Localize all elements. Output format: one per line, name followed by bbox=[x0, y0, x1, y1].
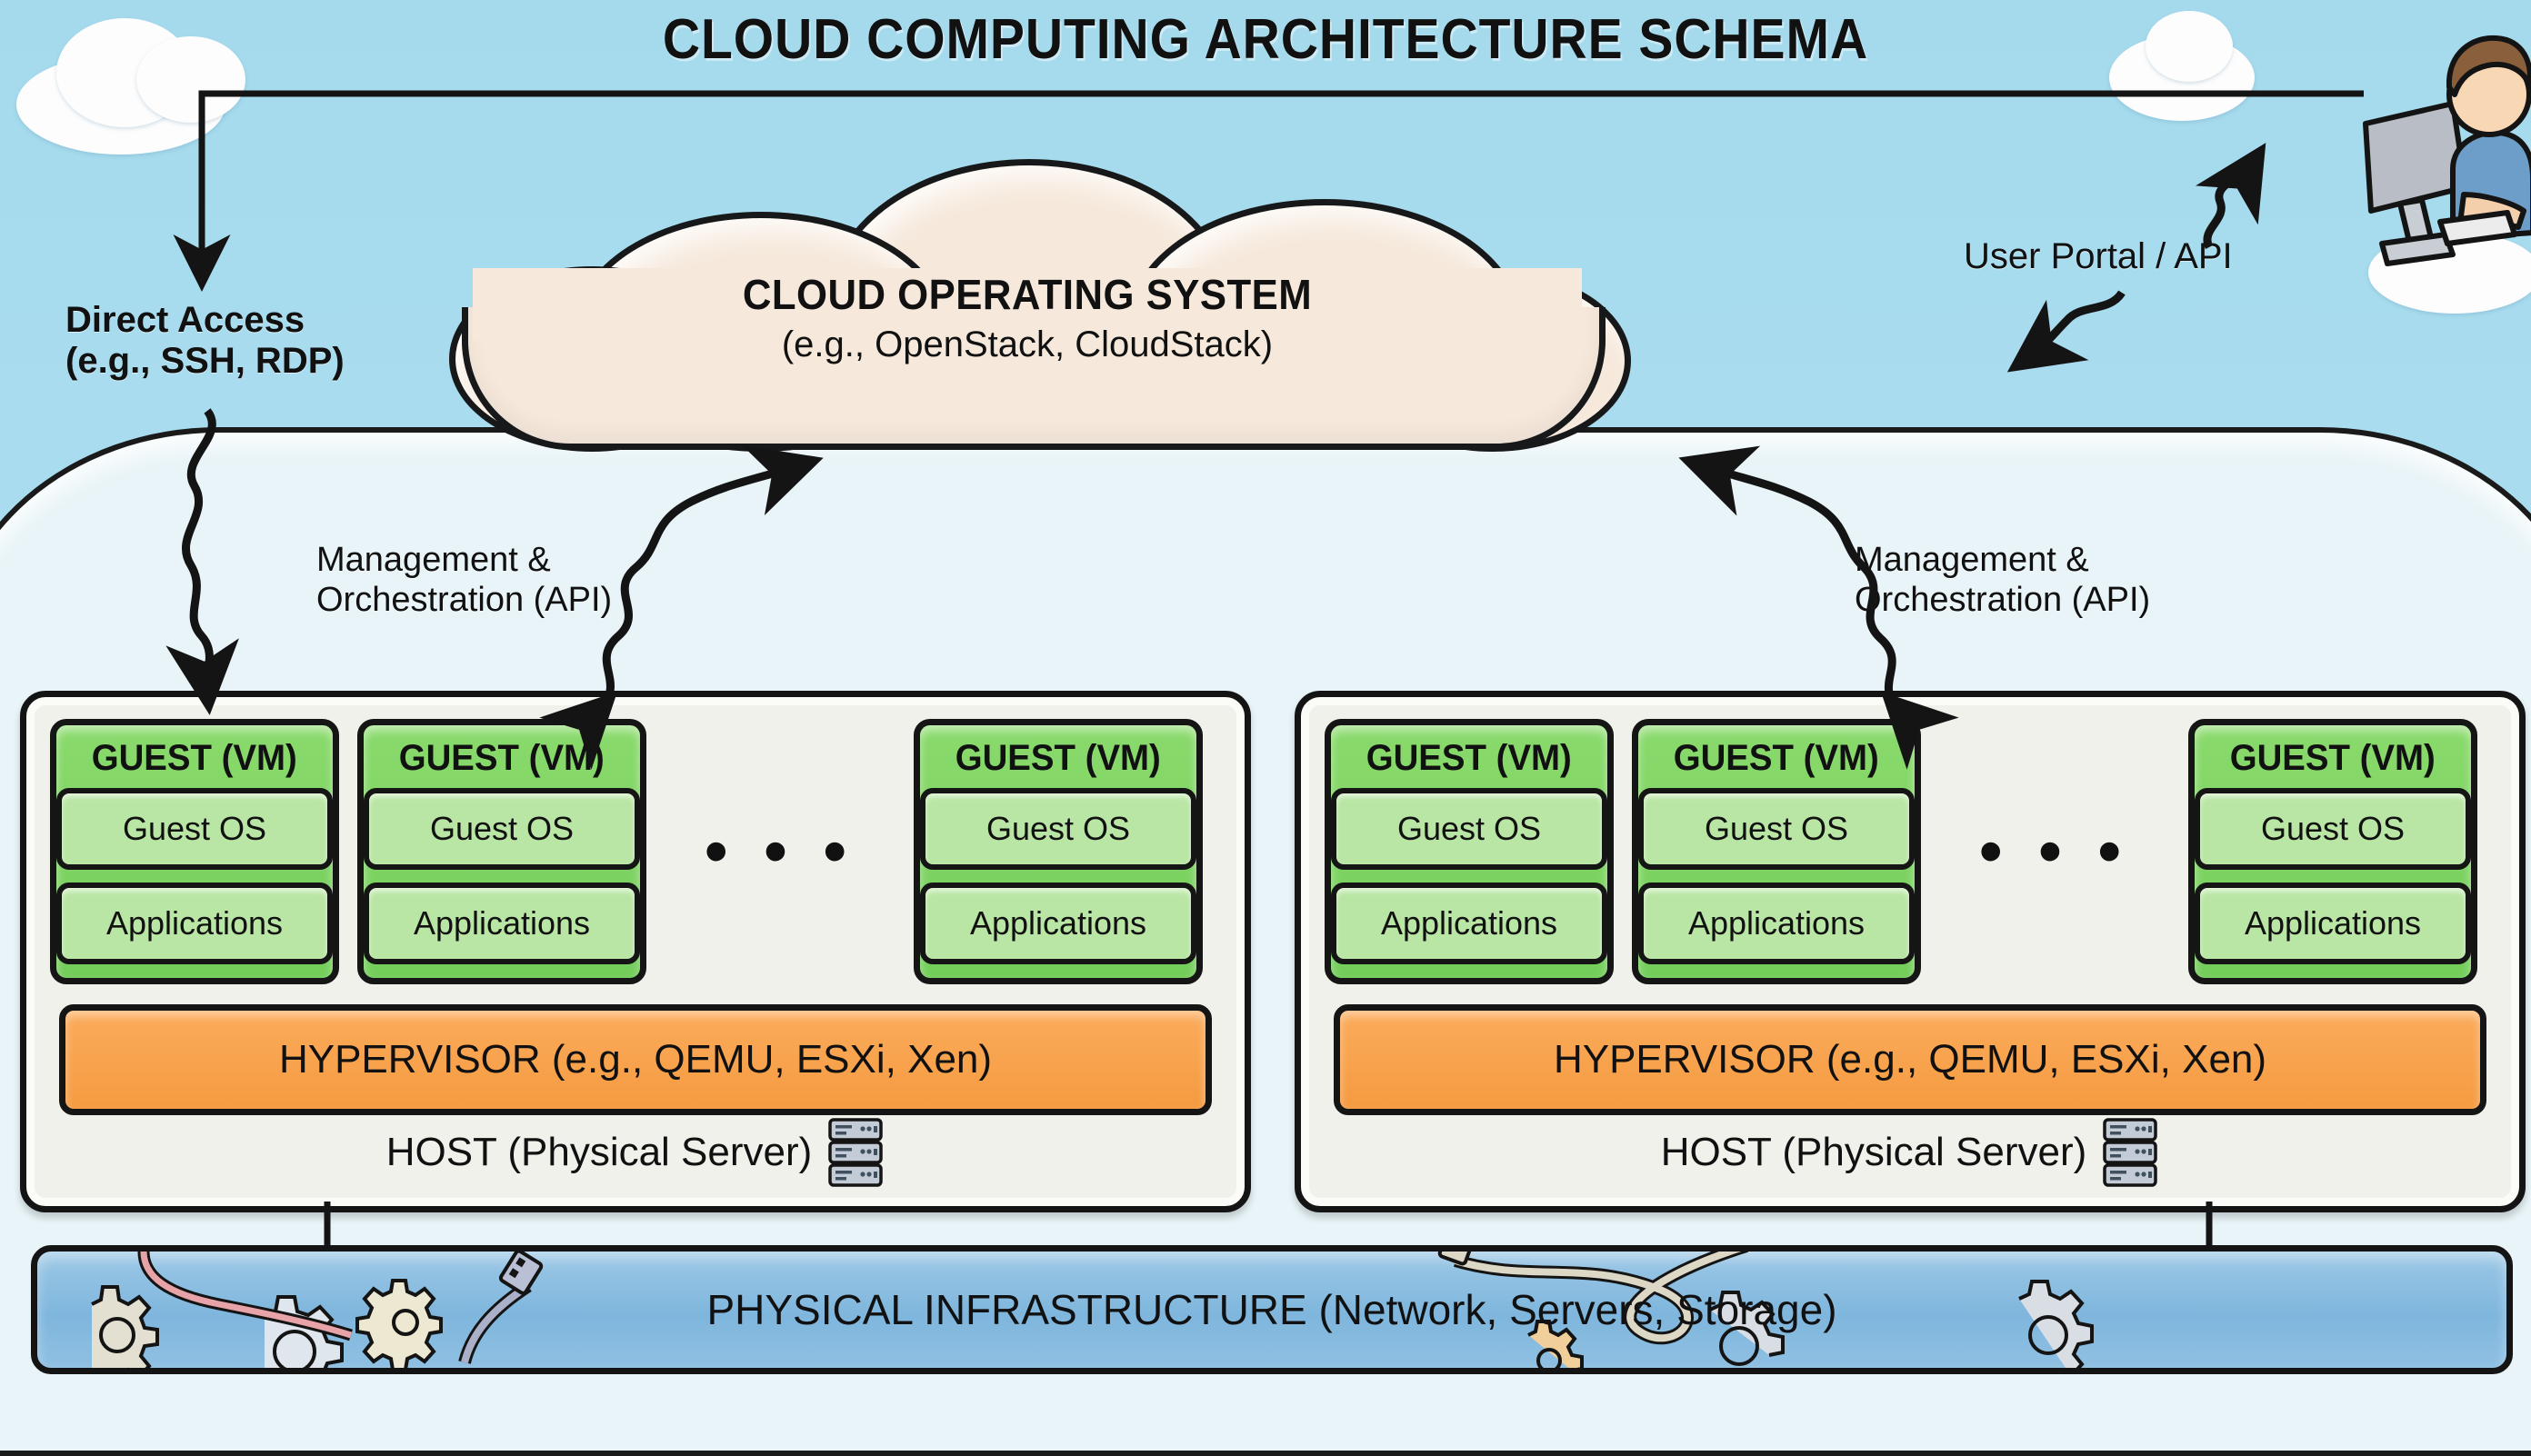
cable-usb bbox=[465, 1286, 528, 1362]
applications-box[interactable]: Applications bbox=[364, 883, 640, 964]
host-group-right[interactable]: GUEST (VM) Guest OS Applications GUEST (… bbox=[1295, 691, 2526, 1212]
guest-os-box[interactable]: Guest OS bbox=[364, 788, 640, 870]
guest-vm-card[interactable]: GUEST (VM) Guest OS Applications bbox=[1325, 719, 1614, 984]
guest-vm-title: GUEST (VM) bbox=[2230, 738, 2436, 779]
applications-box[interactable]: Applications bbox=[920, 883, 1196, 964]
cloud-os-subtitle: (e.g., OpenStack, CloudStack) bbox=[436, 324, 1618, 365]
hypervisor-bar[interactable]: HYPERVISOR (e.g., QEMU, ESXi, Xen) bbox=[59, 1004, 1212, 1115]
host-label-text: HOST (Physical Server) bbox=[1661, 1130, 2087, 1175]
gear-icon bbox=[357, 1281, 441, 1368]
cloud-operating-system-node[interactable]: CLOUD OPERATING SYSTEM (e.g., OpenStack,… bbox=[436, 159, 1618, 450]
guest-vm-title: GUEST (VM) bbox=[1366, 738, 1572, 779]
guest-vm-card[interactable]: GUEST (VM) Guest OS Applications bbox=[914, 719, 1203, 984]
host-label-group: HOST (Physical Server) bbox=[48, 1117, 1223, 1188]
vm-row-right: GUEST (VM) Guest OS Applications GUEST (… bbox=[1325, 715, 2496, 988]
host-label-group: HOST (Physical Server) bbox=[1323, 1117, 2497, 1188]
ellipsis-icon: • • • bbox=[705, 839, 855, 865]
direct-access-line1: Direct Access bbox=[65, 300, 345, 341]
host-group-left[interactable]: GUEST (VM) Guest OS Applications GUEST (… bbox=[20, 691, 1251, 1212]
physical-infrastructure-label: PHYSICAL INFRASTRUCTURE (Network, Server… bbox=[706, 1285, 1836, 1334]
cloud-os-text-group: CLOUD OPERATING SYSTEM (e.g., OpenStack,… bbox=[436, 270, 1618, 365]
server-rack-icon bbox=[2101, 1117, 2159, 1188]
guest-vm-title: GUEST (VM) bbox=[955, 738, 1161, 779]
management-orchestration-label-right: Management & Orchestration (API) bbox=[1855, 541, 2150, 620]
guest-os-box[interactable]: Guest OS bbox=[920, 788, 1196, 870]
physical-infrastructure-bar[interactable]: PHYSICAL INFRASTRUCTURE (Network, Server… bbox=[31, 1245, 2513, 1374]
mgmt-line2: Orchestration (API) bbox=[1855, 581, 2150, 621]
monitor-base bbox=[2382, 234, 2453, 264]
gear-hub bbox=[1538, 1350, 1560, 1368]
ellipsis-icon: • • • bbox=[1979, 839, 2130, 865]
guest-os-box[interactable]: Guest OS bbox=[1638, 788, 1915, 870]
direct-access-label: Direct Access (e.g., SSH, RDP) bbox=[65, 300, 345, 382]
guest-vm-title: GUEST (VM) bbox=[399, 738, 605, 779]
applications-box[interactable]: Applications bbox=[1331, 883, 1607, 964]
vm-row-left: GUEST (VM) Guest OS Applications GUEST (… bbox=[50, 715, 1221, 988]
management-orchestration-label-left: Management & Orchestration (API) bbox=[316, 541, 612, 620]
hypervisor-bar[interactable]: HYPERVISOR (e.g., QEMU, ESXi, Xen) bbox=[1334, 1004, 2486, 1115]
guest-os-box[interactable]: Guest OS bbox=[56, 788, 333, 870]
direct-access-line2: (e.g., SSH, RDP) bbox=[65, 341, 345, 382]
guest-vm-title: GUEST (VM) bbox=[92, 738, 297, 779]
vm-ellipsis-gap: • • • bbox=[1939, 719, 2170, 984]
vm-ellipsis-gap: • • • bbox=[665, 719, 895, 984]
mgmt-line1: Management & bbox=[1855, 541, 2150, 581]
mgmt-line2: Orchestration (API) bbox=[316, 581, 612, 621]
guest-vm-card[interactable]: GUEST (VM) Guest OS Applications bbox=[50, 719, 339, 984]
applications-box[interactable]: Applications bbox=[2195, 883, 2471, 964]
guest-vm-card[interactable]: GUEST (VM) Guest OS Applications bbox=[357, 719, 646, 984]
guest-os-box[interactable]: Guest OS bbox=[2195, 788, 2471, 870]
server-rack-icon bbox=[826, 1117, 885, 1188]
guest-vm-title: GUEST (VM) bbox=[1674, 738, 1879, 779]
guest-vm-card[interactable]: GUEST (VM) Guest OS Applications bbox=[1632, 719, 1921, 984]
guest-os-box[interactable]: Guest OS bbox=[1331, 788, 1607, 870]
user-avatar-icon bbox=[2346, 16, 2531, 271]
guest-vm-card[interactable]: GUEST (VM) Guest OS Applications bbox=[2188, 719, 2477, 984]
applications-box[interactable]: Applications bbox=[1638, 883, 1915, 964]
cloud-os-title: CLOUD OPERATING SYSTEM bbox=[466, 270, 1589, 319]
gear-icon bbox=[2019, 1281, 2092, 1368]
host-label-text: HOST (Physical Server) bbox=[386, 1130, 813, 1175]
applications-box[interactable]: Applications bbox=[56, 883, 333, 964]
usb-plug-icon bbox=[499, 1252, 542, 1294]
page-title: CLOUD COMPUTING ARCHITECTURE SCHEMA bbox=[101, 7, 2429, 72]
user-portal-label: User Portal / API bbox=[1964, 236, 2233, 276]
mgmt-line1: Management & bbox=[316, 541, 612, 581]
